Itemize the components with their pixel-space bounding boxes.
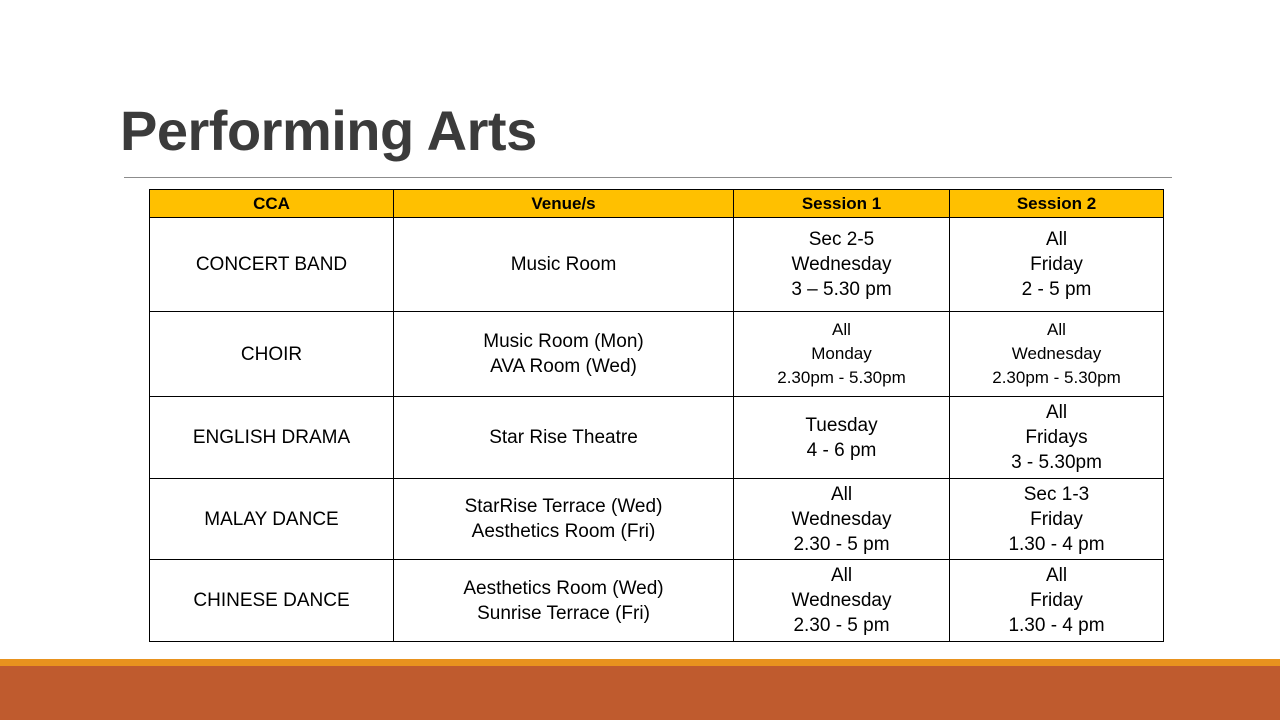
- table-header-row: CCA Venue/s Session 1 Session 2: [150, 190, 1164, 218]
- cell-venue: StarRise Terrace (Wed) Aesthetics Room (…: [394, 479, 734, 560]
- cell-venue: Aesthetics Room (Wed) Sunrise Terrace (F…: [394, 560, 734, 642]
- table-row: CHINESE DANCE Aesthetics Room (Wed) Sunr…: [150, 560, 1164, 642]
- cell-cca: CONCERT BAND: [150, 218, 394, 312]
- session-line: Wednesday: [738, 252, 945, 277]
- cca-name: MALAY DANCE: [154, 507, 389, 532]
- cell-session-1: All Wednesday 2.30 - 5 pm: [734, 560, 950, 642]
- session-line: All: [954, 227, 1159, 252]
- session-line: Sec 1-3: [954, 482, 1159, 507]
- session-line: Sec 2-5: [738, 227, 945, 252]
- cca-name: ENGLISH DRAMA: [154, 425, 389, 450]
- column-header-session-1: Session 1: [734, 190, 950, 218]
- cell-session-2: All Wednesday 2.30pm - 5.30pm: [950, 312, 1164, 397]
- session-line: All: [738, 563, 945, 588]
- venue-line: Music Room (Mon): [398, 329, 729, 354]
- table-row: CONCERT BAND Music Room Sec 2-5 Wednesda…: [150, 218, 1164, 312]
- session-line: 1.30 - 4 pm: [954, 613, 1159, 638]
- table-header: CCA Venue/s Session 1 Session 2: [150, 190, 1164, 218]
- session-line: All: [738, 318, 945, 342]
- cell-session-2: Sec 1-3 Friday 1.30 - 4 pm: [950, 479, 1164, 560]
- cell-session-1: Tuesday 4 - 6 pm: [734, 397, 950, 479]
- cell-cca: CHINESE DANCE: [150, 560, 394, 642]
- table-row: MALAY DANCE StarRise Terrace (Wed) Aesth…: [150, 479, 1164, 560]
- venue-line: Aesthetics Room (Wed): [398, 576, 729, 601]
- venue-line: StarRise Terrace (Wed): [398, 494, 729, 519]
- cell-cca: MALAY DANCE: [150, 479, 394, 560]
- session-line: All: [954, 400, 1159, 425]
- session-line: 1.30 - 4 pm: [954, 532, 1159, 557]
- venue-line: Aesthetics Room (Fri): [398, 519, 729, 544]
- cell-cca: ENGLISH DRAMA: [150, 397, 394, 479]
- table: CCA Venue/s Session 1 Session 2 CONCERT …: [149, 189, 1164, 642]
- cell-session-1: Sec 2-5 Wednesday 3 – 5.30 pm: [734, 218, 950, 312]
- cca-name: CHINESE DANCE: [154, 588, 389, 613]
- session-line: Friday: [954, 252, 1159, 277]
- cell-venue: Star Rise Theatre: [394, 397, 734, 479]
- table-body: CONCERT BAND Music Room Sec 2-5 Wednesda…: [150, 218, 1164, 642]
- session-line: All: [954, 318, 1159, 342]
- venue-line: Star Rise Theatre: [398, 425, 729, 450]
- session-line: 2 - 5 pm: [954, 277, 1159, 302]
- cell-session-2: All Fridays 3 - 5.30pm: [950, 397, 1164, 479]
- session-line: Monday: [738, 342, 945, 366]
- table-row: ENGLISH DRAMA Star Rise Theatre Tuesday …: [150, 397, 1164, 479]
- page-title: Performing Arts: [120, 100, 1180, 162]
- column-header-session-2: Session 2: [950, 190, 1164, 218]
- session-line: 3 – 5.30 pm: [738, 277, 945, 302]
- session-line: 3 - 5.30pm: [954, 450, 1159, 475]
- session-line: 2.30 - 5 pm: [738, 532, 945, 557]
- cell-session-1: All Wednesday 2.30 - 5 pm: [734, 479, 950, 560]
- slide-canvas: Performing Arts CCA Venue/s Session 1 Se…: [0, 0, 1280, 720]
- table-row: CHOIR Music Room (Mon) AVA Room (Wed) Al…: [150, 312, 1164, 397]
- session-line: Wednesday: [738, 588, 945, 613]
- session-line: Wednesday: [738, 507, 945, 532]
- session-line: All: [738, 482, 945, 507]
- column-header-venues: Venue/s: [394, 190, 734, 218]
- cca-name: CONCERT BAND: [154, 252, 389, 277]
- venue-line: Sunrise Terrace (Fri): [398, 601, 729, 626]
- cca-schedule-table: CCA Venue/s Session 1 Session 2 CONCERT …: [149, 189, 1163, 642]
- session-line: Wednesday: [954, 342, 1159, 366]
- cell-cca: CHOIR: [150, 312, 394, 397]
- session-line: Friday: [954, 588, 1159, 613]
- session-line: All: [954, 563, 1159, 588]
- session-line: 2.30pm - 5.30pm: [738, 366, 945, 390]
- session-line: 2.30 - 5 pm: [738, 613, 945, 638]
- venue-line: Music Room: [398, 252, 729, 277]
- column-header-cca: CCA: [150, 190, 394, 218]
- cell-session-2: All Friday 1.30 - 4 pm: [950, 560, 1164, 642]
- cca-name: CHOIR: [154, 342, 389, 367]
- cell-session-2: All Friday 2 - 5 pm: [950, 218, 1164, 312]
- cell-session-1: All Monday 2.30pm - 5.30pm: [734, 312, 950, 397]
- session-line: Tuesday: [738, 413, 945, 438]
- venue-line: AVA Room (Wed): [398, 354, 729, 379]
- title-divider-rule: [124, 177, 1172, 178]
- footer-accent-strip-orange: [0, 659, 1280, 666]
- footer-accent-band-terracotta: [0, 666, 1280, 720]
- session-line: Friday: [954, 507, 1159, 532]
- session-line: Fridays: [954, 425, 1159, 450]
- cell-venue: Music Room (Mon) AVA Room (Wed): [394, 312, 734, 397]
- cell-venue: Music Room: [394, 218, 734, 312]
- session-line: 4 - 6 pm: [738, 438, 945, 463]
- session-line: 2.30pm - 5.30pm: [954, 366, 1159, 390]
